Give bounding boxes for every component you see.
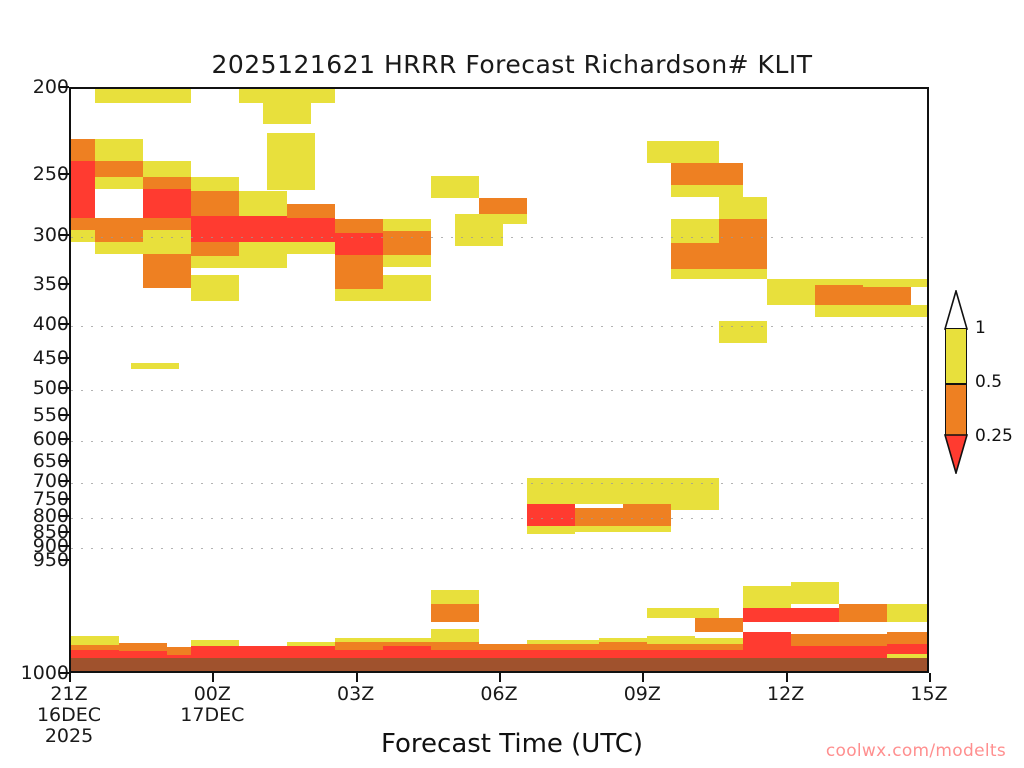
x-axis-tick-mark (69, 673, 71, 682)
x-axis-tick-mark (212, 673, 214, 682)
colorbar-tick-label: 1 (975, 318, 986, 338)
colorbar-body (945, 328, 967, 436)
x-axis-tick-label: 03Z (301, 684, 411, 705)
colorbar-segment (946, 383, 966, 437)
x-axis-tick-mark (356, 673, 358, 682)
x-axis-tick-label: 15Z (874, 684, 984, 705)
x-axis-tick-mark (786, 673, 788, 682)
colorbar-bottom-arrow-icon (944, 434, 968, 474)
colorbar-divider (946, 383, 966, 385)
colorbar: 10.50.25 (945, 292, 967, 472)
x-axis-tick-label: 00Z 17DEC (157, 684, 267, 726)
colorbar-top-arrow-icon (944, 290, 968, 330)
x-axis-tick-mark (929, 673, 931, 682)
x-axis-tick-label: 06Z (444, 684, 554, 705)
colorbar-tick-label: 0.5 (975, 372, 1002, 392)
colorbar-segment (946, 329, 966, 383)
x-axis-tick-mark (642, 673, 644, 682)
x-axis: 21Z 16DEC 202500Z 17DEC03Z06Z09Z12Z15Z (0, 0, 1024, 768)
x-axis-tick-label: 12Z (731, 684, 841, 705)
credit-watermark: coolwx.com/modelts (0, 741, 1024, 761)
x-axis-tick-label: 09Z (587, 684, 697, 705)
x-axis-tick-mark (499, 673, 501, 682)
colorbar-tick-label: 0.25 (975, 426, 1013, 446)
chart-canvas: 2025121621 HRRR Forecast Richardson# KLI… (0, 0, 1024, 768)
